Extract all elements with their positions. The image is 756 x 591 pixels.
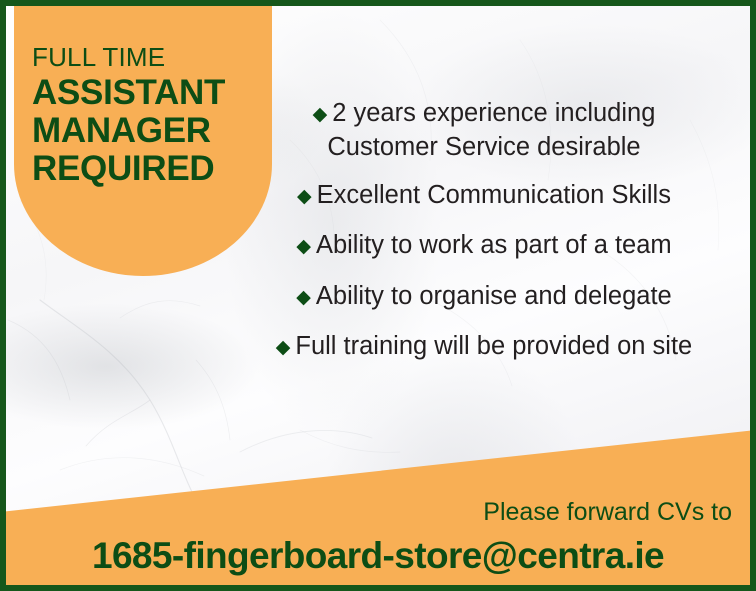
diamond-bullet-icon: ◆ [276, 337, 291, 358]
contact-email-address[interactable]: 1685-fingerboard-store@centra.ie [0, 535, 756, 577]
requirement-item: ◆Ability to work as part of a team [230, 228, 738, 262]
requirement-text-line2: Customer Service desirable [230, 130, 738, 164]
job-advert-poster: FULL TIME ASSISTANT MANAGER REQUIRED ◆2 … [0, 0, 756, 591]
requirement-text: 2 years experience including [332, 99, 655, 127]
diamond-bullet-icon: ◆ [296, 287, 311, 308]
cv-instruction-text: Please forward CVs to [483, 498, 732, 527]
requirement-item: ◆Ability to organise and delegate [230, 279, 738, 313]
contact-footer: Please forward CVs to 1685-fingerboard-s… [0, 481, 756, 591]
requirement-item: ◆2 years experience including Customer S… [230, 96, 738, 164]
requirement-text: Full training will be provided on site [295, 332, 692, 360]
requirement-text: Excellent Communication Skills [317, 181, 671, 209]
requirement-text: Ability to organise and delegate [316, 282, 672, 310]
diamond-bullet-icon: ◆ [296, 236, 311, 257]
badge-kicker: FULL TIME [32, 44, 272, 70]
diamond-bullet-icon: ◆ [297, 186, 312, 207]
requirements-list: ◆2 years experience including Customer S… [230, 96, 738, 379]
requirement-text: Ability to work as part of a team [316, 231, 672, 259]
requirement-item: ◆Full training will be provided on site [230, 329, 738, 363]
diamond-bullet-icon: ◆ [313, 104, 328, 125]
requirement-item: ◆Excellent Communication Skills [230, 178, 738, 212]
